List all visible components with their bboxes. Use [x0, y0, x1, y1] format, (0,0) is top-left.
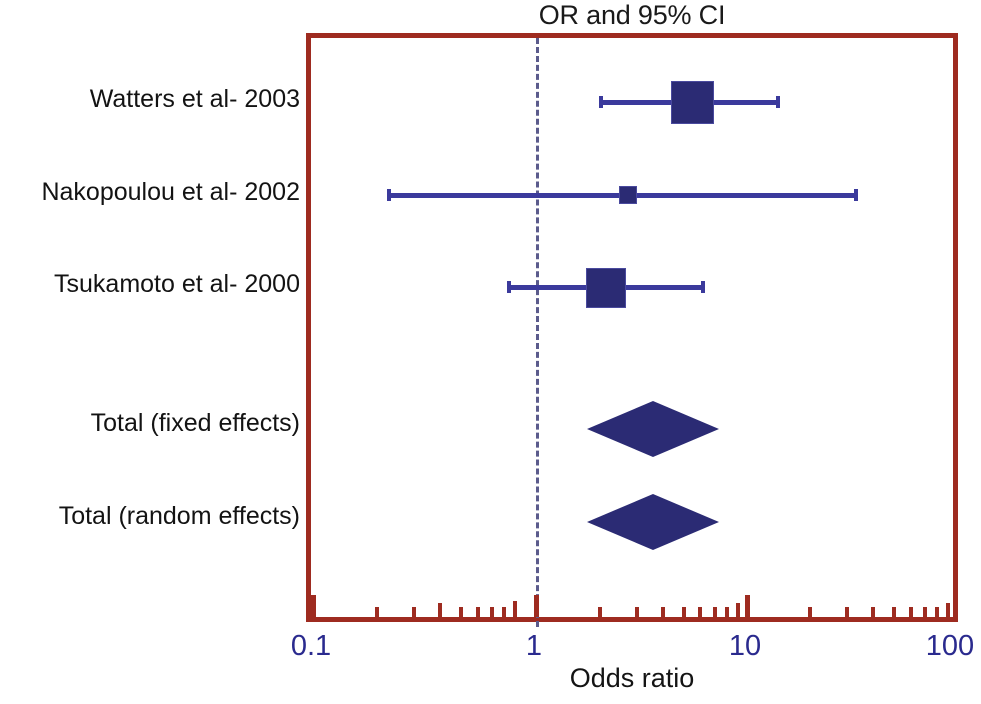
x-tick-major-1 — [534, 595, 539, 617]
x-tick-minor — [438, 603, 442, 617]
diamond-shape-random — [587, 494, 719, 550]
y-axis-label-total-random: Total (random effects) — [59, 502, 300, 530]
x-tick-minor — [923, 607, 927, 617]
x-tick-label-10: 10 — [729, 630, 761, 662]
x-tick-minor — [808, 607, 812, 617]
x-tick-minor — [502, 607, 506, 617]
x-tick-minor — [490, 607, 494, 617]
ci-cap-left — [599, 96, 603, 108]
x-tick-label-100: 100 — [926, 630, 974, 662]
x-tick-minor — [845, 607, 849, 617]
x-tick-minor — [892, 607, 896, 617]
chart-title: OR and 95% CI — [306, 0, 958, 31]
ci-cap-right — [854, 189, 858, 201]
plot-area — [306, 33, 958, 622]
ci-cap-right — [701, 281, 705, 293]
x-tick-major-10 — [745, 595, 750, 617]
ci-cap-right — [776, 96, 780, 108]
x-tick-minor — [513, 601, 517, 617]
x-tick-minor — [459, 607, 463, 617]
effect-size-marker — [671, 81, 714, 124]
pooled-effect-diamond-random — [587, 494, 719, 555]
ci-cap-left — [507, 281, 511, 293]
x-tick-minor — [935, 607, 939, 617]
x-tick-minor — [909, 607, 913, 617]
x-tick-minor — [635, 607, 639, 617]
x-axis-title: Odds ratio — [306, 663, 958, 693]
x-tick-minor — [871, 607, 875, 617]
effect-size-marker — [586, 268, 626, 308]
x-tick-minor — [598, 607, 602, 617]
ci-cap-left — [387, 189, 391, 201]
x-tick-minor — [725, 607, 729, 617]
y-axis-label-tsukamoto: Tsukamoto et al- 2000 — [54, 270, 300, 298]
plot-inner — [311, 38, 953, 617]
x-tick-label-0.1: 0.1 — [291, 630, 331, 662]
diamond-shape-fixed — [587, 401, 719, 457]
effect-size-marker — [619, 186, 637, 204]
x-tick-minor — [713, 607, 717, 617]
x-tick-major-0.1 — [311, 595, 316, 617]
y-axis-label-nakopoulou: Nakopoulou et al- 2002 — [41, 178, 300, 206]
x-tick-major-100 — [953, 595, 958, 617]
x-tick-minor — [698, 607, 702, 617]
y-axis-label-watters: Watters et al- 2003 — [90, 85, 300, 113]
x-tick-minor — [736, 603, 740, 617]
pooled-effect-diamond-fixed — [587, 401, 719, 462]
forest-plot-figure: OR and 95% CI Watters et al- 2003 Nakopo… — [0, 0, 981, 704]
x-tick-label-1: 1 — [526, 630, 542, 662]
null-reference-line — [536, 38, 539, 627]
x-tick-minor — [476, 607, 480, 617]
x-tick-minor — [375, 607, 379, 617]
x-tick-minor — [412, 607, 416, 617]
x-tick-minor — [661, 607, 665, 617]
x-tick-minor — [682, 607, 686, 617]
y-axis-label-group: Watters et al- 2003 Nakopoulou et al- 20… — [0, 0, 300, 704]
y-axis-label-total-fixed: Total (fixed effects) — [91, 409, 300, 437]
x-tick-minor — [946, 603, 950, 617]
